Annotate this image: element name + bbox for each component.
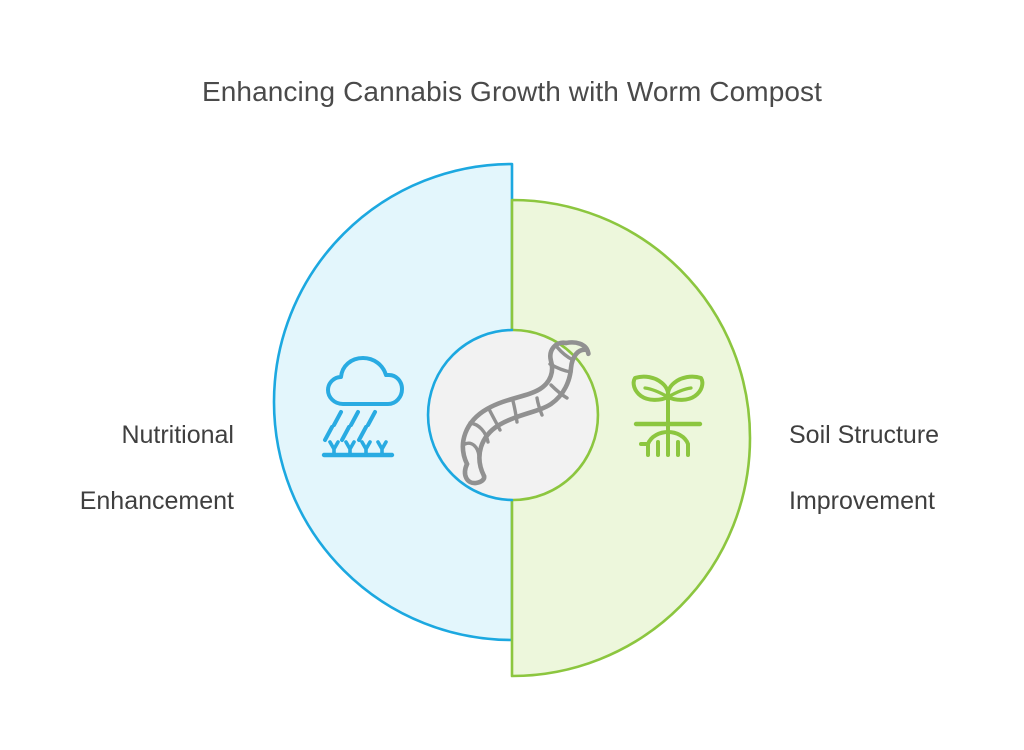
label-right-line-1: Soil Structure bbox=[789, 419, 1024, 452]
label-soil-structure-improvement[interactable]: Soil Structure Improvement bbox=[789, 386, 1024, 551]
label-nutritional-enhancement[interactable]: Nutritional Enhancement bbox=[0, 386, 234, 551]
label-left-line-1: Nutritional bbox=[0, 419, 234, 452]
label-right-line-2: Improvement bbox=[789, 485, 1024, 518]
venn-diagram-graphic bbox=[0, 0, 1024, 750]
label-left-line-2: Enhancement bbox=[0, 485, 234, 518]
diagram-root: Enhancing Cannabis Growth with Worm Comp… bbox=[0, 0, 1024, 750]
